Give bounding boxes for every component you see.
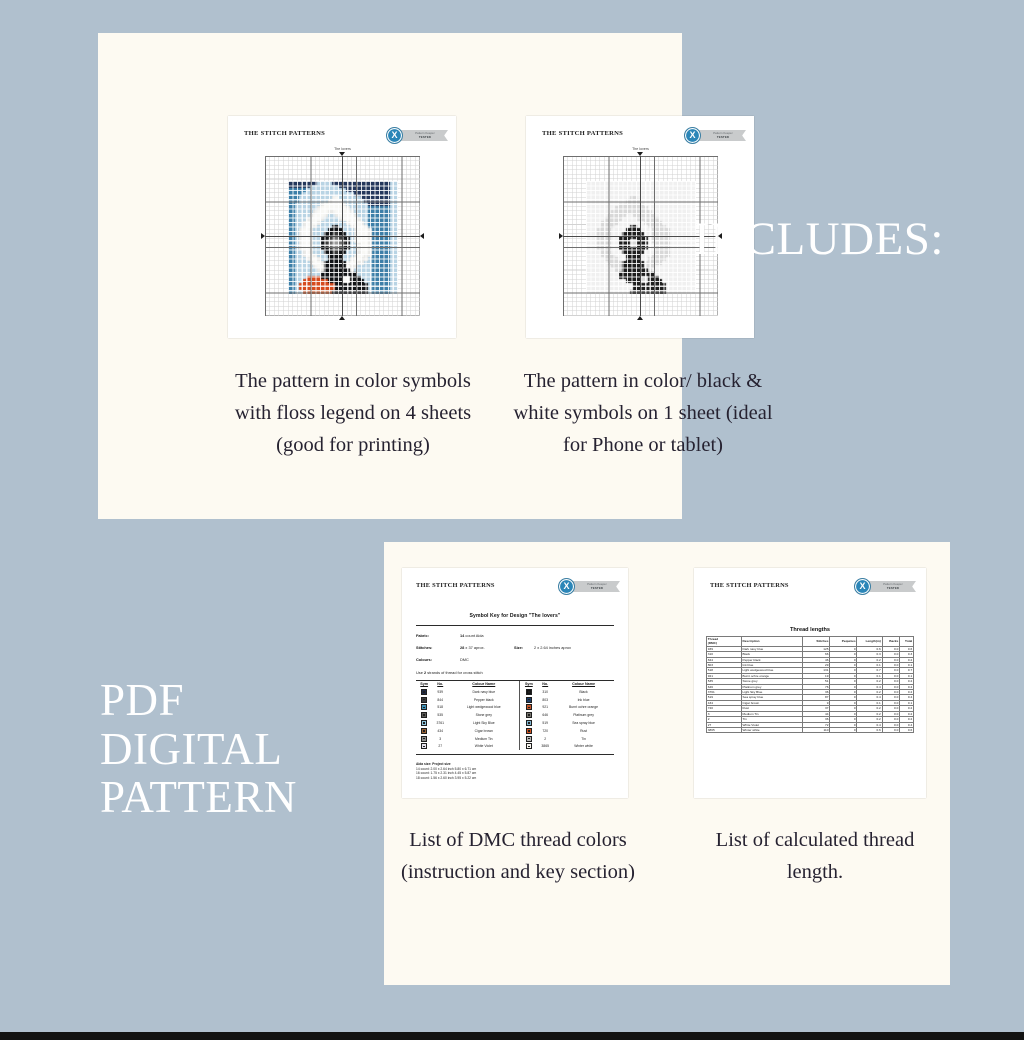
sheet-brand-title: THE STITCH PATTERNS bbox=[416, 582, 495, 589]
key-col-2: Colour Name bbox=[448, 681, 520, 688]
key-row: 939Dark navy blue310Black bbox=[416, 688, 614, 696]
key-dmc-no: 939 bbox=[432, 688, 448, 696]
meta-value-colours: DMC bbox=[460, 657, 469, 662]
key-colour-name: Cigar brown bbox=[448, 727, 520, 735]
tl-pequnies: 0 bbox=[830, 727, 857, 732]
symbol-swatch bbox=[421, 736, 427, 742]
meta-value-stitches: 28 x 37 aprox. bbox=[460, 645, 485, 650]
tl-col-2: Stitches bbox=[803, 637, 830, 647]
meta-value-fabric: 14 count Aida bbox=[460, 633, 484, 638]
pattern-sheet-symbol-key[interactable]: THE STITCH PATTERNS X Pattern Keeper TES… bbox=[402, 568, 628, 798]
pattern-sheet-thread-lengths[interactable]: THE STITCH PATTERNS X Pattern Keeper TES… bbox=[694, 568, 926, 798]
tl-col-0: Thread(DMC) bbox=[707, 637, 742, 647]
key-dmc-no: 844 bbox=[432, 696, 448, 704]
symbol-key-table: SymNo.Colour NameSymNo.Colour Name939Dar… bbox=[416, 681, 614, 750]
tl-length: 0.6 bbox=[857, 727, 882, 732]
key-colour-name: Stone grey bbox=[448, 711, 520, 719]
tl-thread: 3865 bbox=[707, 727, 742, 732]
key-colour-name: Sea spray blue bbox=[553, 719, 614, 727]
pattern-keeper-x-icon: X bbox=[558, 578, 575, 595]
tl-total: 0.6 bbox=[900, 727, 914, 732]
aida-size-note: Aida size: Project size 14 count: 2.00 x… bbox=[416, 762, 476, 780]
key-dmc-no: 921 bbox=[537, 704, 553, 712]
key-colour-name: Medium Tin bbox=[448, 735, 520, 743]
sheet-brand-title: THE STITCH PATTERNS bbox=[710, 582, 789, 589]
badge-ribbon-line2: TESTED bbox=[591, 587, 603, 590]
symbol-swatch bbox=[421, 728, 427, 734]
thread-lengths-table: Thread(DMC)DescriptionStitchesPequniesLe… bbox=[706, 636, 914, 733]
symbol-swatch bbox=[526, 728, 532, 734]
key-col-0: Sym bbox=[416, 681, 432, 688]
key-dmc-no: 2 bbox=[537, 735, 553, 743]
sheet-brand-title: THE STITCH PATTERNS bbox=[542, 130, 623, 137]
colour-chart-grid[interactable]: The lovers bbox=[265, 156, 420, 316]
caption-thread-length: List of calculated thread length. bbox=[688, 825, 942, 889]
key-row: 434Cigar brown720Rust bbox=[416, 727, 614, 735]
symbol-swatch bbox=[421, 704, 427, 710]
key-dmc-no: 434 bbox=[432, 727, 448, 735]
caption-dmc-list: List of DMC thread colors (instruction a… bbox=[398, 825, 638, 889]
pattern-keeper-badge: X Pattern Keeper TESTED bbox=[684, 127, 746, 144]
chart-center-marker-right bbox=[420, 233, 424, 239]
pattern-keeper-x-icon: X bbox=[684, 127, 701, 144]
tl-description: Winter white bbox=[741, 727, 802, 732]
tl-stitches: 110 bbox=[803, 727, 830, 732]
strands-note: Use 2 strands of thread for cross stitch bbox=[416, 670, 483, 675]
key-row: 27White Violet3865Winter white bbox=[416, 742, 614, 750]
key-col-r-0: Sym bbox=[520, 681, 537, 688]
symbol-swatch bbox=[526, 720, 532, 726]
pattern-keeper-ribbon: Pattern Keeper TESTED bbox=[868, 581, 916, 592]
symbol-swatch bbox=[421, 743, 427, 749]
pattern-keeper-ribbon: Pattern Keeper TESTED bbox=[698, 130, 746, 141]
key-dmc-no: 720 bbox=[537, 727, 553, 735]
top-feature-panel: THE STITCH PATTERNS X Pattern Keeper TES… bbox=[98, 33, 682, 519]
pdf-heading-line-1: PDF bbox=[100, 676, 297, 725]
symbol-swatch bbox=[526, 689, 532, 695]
key-row: 3Medium Tin2Tin bbox=[416, 735, 614, 743]
pattern-keeper-x-icon: X bbox=[386, 127, 403, 144]
key-dmc-no: 535 bbox=[432, 711, 448, 719]
table-row: 3865Winter white11000.60.00.6 bbox=[707, 727, 914, 732]
meta-value-size: 2 x 2.64 inches aprox bbox=[534, 645, 571, 650]
symbol-swatch bbox=[526, 712, 532, 718]
badge-ribbon-line2: TESTED bbox=[717, 136, 729, 139]
key-colour-name: Platinum grey bbox=[553, 711, 614, 719]
pattern-keeper-badge: X Pattern Keeper TESTED bbox=[854, 578, 916, 595]
aida-note-line: 18 count: 1.56 x 2.60 inch 3.95 x 5.22 c… bbox=[416, 776, 476, 781]
bottom-feature-panel: THE STITCH PATTERNS X Pattern Keeper TES… bbox=[384, 542, 950, 985]
key-colour-name: Ink blue bbox=[553, 696, 614, 704]
meta-label-size: Size: bbox=[514, 645, 523, 650]
meta-label-stitches: Stitches: bbox=[416, 645, 432, 650]
key-dmc-no: 803 bbox=[537, 696, 553, 704]
chart-design-label: The lovers bbox=[563, 147, 718, 151]
symbol-swatch bbox=[526, 704, 532, 710]
includes-heading: INCLUDES: bbox=[694, 214, 944, 265]
key-dmc-no: 518 bbox=[432, 704, 448, 712]
pattern-sheet-color-symbols[interactable]: THE STITCH PATTERNS X Pattern Keeper TES… bbox=[228, 116, 456, 338]
symbol-swatch bbox=[421, 697, 427, 703]
pdf-heading-line-3: PATTERN bbox=[100, 773, 297, 822]
aida-note-title: Aida size: Project size bbox=[416, 762, 451, 766]
badge-ribbon-line2: TESTED bbox=[887, 587, 899, 590]
tl-col-1: Description bbox=[741, 637, 802, 647]
symbol-swatch bbox=[526, 743, 532, 749]
key-dmc-no: 27 bbox=[432, 742, 448, 750]
chart-center-marker-left bbox=[261, 233, 265, 239]
key-row: 3761Light Sky Blue519Sea spray blue bbox=[416, 719, 614, 727]
key-colour-name: Burnt ochre orange bbox=[553, 704, 614, 712]
symbol-swatch bbox=[421, 712, 427, 718]
pattern-keeper-x-icon: X bbox=[854, 578, 871, 595]
key-colour-name: Tin bbox=[553, 735, 614, 743]
key-dmc-no: 310 bbox=[537, 688, 553, 696]
symbol-swatch bbox=[526, 736, 532, 742]
key-row: 535Stone grey646Platinum grey bbox=[416, 711, 614, 719]
caption-bw-symbols: The pattern in color/ black & white symb… bbox=[512, 366, 774, 462]
thread-lengths-title: Thread lengths bbox=[694, 627, 926, 633]
symbol-swatch bbox=[421, 720, 427, 726]
key-dmc-no: 646 bbox=[537, 711, 553, 719]
meta-label-colours: Colours: bbox=[416, 657, 432, 662]
key-colour-name: White Violet bbox=[448, 742, 520, 750]
tl-col-6: Total bbox=[900, 637, 914, 647]
chart-center-marker-bottom bbox=[339, 316, 345, 320]
key-dmc-no: 3865 bbox=[537, 742, 553, 750]
pdf-digital-pattern-heading: PDF DIGITAL PATTERN bbox=[100, 676, 297, 822]
meta-label-fabric: Fabric: bbox=[416, 633, 429, 638]
pdf-heading-line-2: DIGITAL bbox=[100, 725, 297, 774]
pattern-keeper-ribbon: Pattern Keeper TESTED bbox=[400, 130, 448, 141]
key-colour-name: Black bbox=[553, 688, 614, 696]
symbol-swatch bbox=[526, 697, 532, 703]
chart-design-label: The lovers bbox=[265, 147, 420, 151]
key-colour-name: Winter white bbox=[553, 742, 614, 750]
sheet-brand-title: THE STITCH PATTERNS bbox=[244, 130, 325, 137]
pattern-keeper-badge: X Pattern Keeper TESTED bbox=[558, 578, 620, 595]
tl-col-5: Backs bbox=[882, 637, 900, 647]
tl-backs: 0.0 bbox=[882, 727, 900, 732]
chart-center-marker-top bbox=[637, 152, 643, 156]
key-colour-name: Dark navy blue bbox=[448, 688, 520, 696]
chart-center-marker-left bbox=[559, 233, 563, 239]
chart-center-marker-top bbox=[339, 152, 345, 156]
pattern-keeper-ribbon: Pattern Keeper TESTED bbox=[572, 581, 620, 592]
tl-col-4: Length(m) bbox=[857, 637, 882, 647]
key-dmc-no: 3 bbox=[432, 735, 448, 743]
key-dmc-no: 519 bbox=[537, 719, 553, 727]
tl-col-3: Pequnies bbox=[830, 637, 857, 647]
key-col-1: No. bbox=[432, 681, 448, 688]
bottom-black-bar bbox=[0, 1032, 1024, 1040]
key-row: 844Pepper black803Ink blue bbox=[416, 696, 614, 704]
key-row: 518Light wedgewood blue921Burnt ochre or… bbox=[416, 704, 614, 712]
badge-ribbon-line2: TESTED bbox=[419, 136, 431, 139]
pattern-keeper-badge: X Pattern Keeper TESTED bbox=[386, 127, 448, 144]
key-col-r-2: Colour Name bbox=[553, 681, 614, 688]
key-colour-name: Light wedgewood blue bbox=[448, 704, 520, 712]
chart-center-marker-bottom bbox=[637, 316, 643, 320]
key-dmc-no: 3761 bbox=[432, 719, 448, 727]
key-col-r-1: No. bbox=[537, 681, 553, 688]
symbol-swatch bbox=[421, 689, 427, 695]
key-colour-name: Pepper black bbox=[448, 696, 520, 704]
poster-stage: THE STITCH PATTERNS X Pattern Keeper TES… bbox=[0, 0, 1024, 1040]
symbol-key-title: Symbol Key for Design "The lovers" bbox=[402, 613, 628, 619]
key-colour-name: Rust bbox=[553, 727, 614, 735]
caption-color-symbols: The pattern in color symbols with floss … bbox=[230, 366, 476, 462]
key-colour-name: Light Sky Blue bbox=[448, 719, 520, 727]
